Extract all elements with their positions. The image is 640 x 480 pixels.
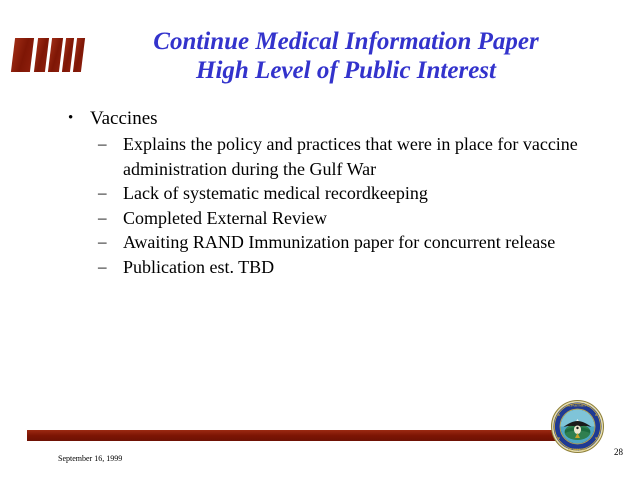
list-item-label: Vaccines	[90, 108, 158, 129]
list-item: • Vaccines	[60, 106, 620, 131]
dash-icon: –	[98, 230, 107, 255]
slide-title-line-2: High Level of Public Interest	[96, 56, 596, 85]
footer-date: September 16, 1999	[58, 454, 122, 463]
list-item: – Publication est. TBD	[60, 255, 620, 280]
logo-bar	[48, 38, 63, 72]
dash-icon: –	[98, 181, 107, 206]
list-item-label: Awaiting RAND Immunization paper for con…	[123, 230, 620, 255]
dash-icon: –	[98, 132, 107, 157]
list-item-label: Completed External Review	[123, 206, 620, 231]
dash-icon: –	[98, 206, 107, 231]
slanted-bars-logo	[13, 38, 83, 72]
dod-seal: DEPARTMENT OF DEFENSE	[551, 400, 604, 453]
list-item: – Completed External Review	[60, 206, 620, 231]
page-number: 28	[614, 447, 623, 457]
logo-bar	[62, 38, 74, 72]
logo-bar	[73, 38, 85, 72]
slide-body: • Vaccines – Explains the policy and pra…	[60, 106, 620, 279]
sub-list: – Explains the policy and practices that…	[60, 132, 620, 279]
slide-title: Continue Medical Information Paper High …	[96, 27, 596, 85]
list-item-label: Explains the policy and practices that w…	[123, 132, 620, 181]
bullet-dot-icon: •	[68, 106, 73, 131]
svg-text:OF DEFENSE: OF DEFENSE	[568, 447, 587, 451]
footer-divider-bar	[27, 430, 568, 441]
list-item: – Awaiting RAND Immunization paper for c…	[60, 230, 620, 255]
logo-bar	[34, 38, 49, 72]
svg-text:DEPARTMENT: DEPARTMENT	[567, 404, 590, 408]
list-item: – Explains the policy and practices that…	[60, 132, 620, 181]
list-item-label: Lack of systematic medical recordkeeping	[123, 181, 620, 206]
list-item: – Lack of systematic medical recordkeepi…	[60, 181, 620, 206]
slide-title-line-1: Continue Medical Information Paper	[96, 27, 596, 56]
dash-icon: –	[98, 255, 107, 280]
logo-bar	[11, 38, 34, 72]
list-item-label: Publication est. TBD	[123, 255, 620, 280]
slide-canvas: Continue Medical Information Paper High …	[0, 0, 640, 480]
